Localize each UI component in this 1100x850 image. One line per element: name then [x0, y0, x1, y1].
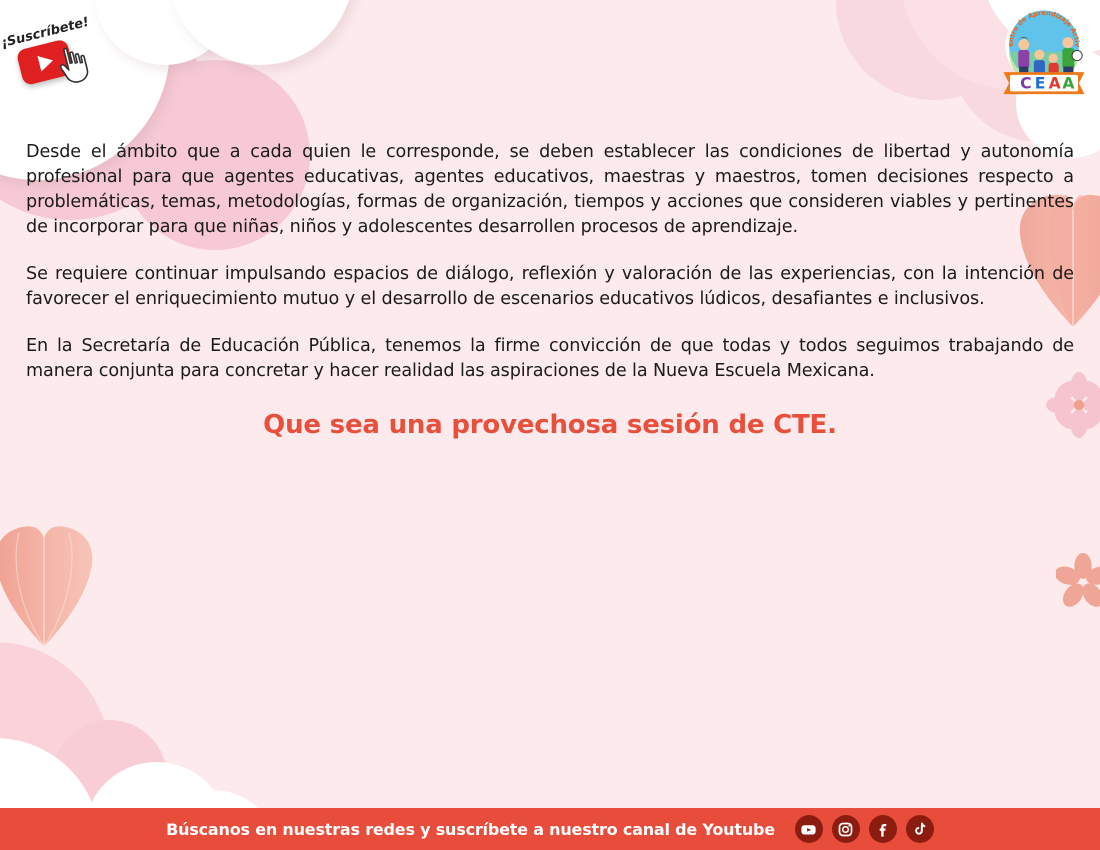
youtube-icon[interactable]: [795, 815, 823, 843]
footer-bar: Búscanos en nuestras redes y suscríbete …: [0, 808, 1100, 850]
svg-text:A: A: [1049, 74, 1062, 93]
svg-text:C: C: [1020, 74, 1031, 93]
body-paragraph-2: Se requiere continuar impulsando espacio…: [26, 262, 1074, 312]
body-paragraph-3: En la Secretaría de Educación Pública, t…: [26, 334, 1074, 384]
decorative-flower-salmon: [1056, 553, 1100, 607]
subscribe-badge[interactable]: ¡Suscríbete!: [0, 7, 129, 104]
decorative-cloud-white: [168, 0, 353, 65]
decorative-balloon-left: [0, 523, 94, 648]
presentation-slide: ¡Suscríbete! Centro de Aprendizaje Activ…: [0, 0, 1100, 850]
svg-text:A: A: [1062, 74, 1075, 93]
instagram-icon[interactable]: [832, 815, 860, 843]
footer-text: Búscanos en nuestras redes y suscríbete …: [166, 820, 775, 839]
slide-body: Desde el ámbito que a cada quien le corr…: [26, 140, 1074, 440]
svg-text:E: E: [1035, 74, 1046, 93]
social-links: [795, 815, 934, 843]
facebook-icon[interactable]: [869, 815, 897, 843]
closing-headline: Que sea una provechosa sesión de CTE.: [26, 410, 1074, 440]
tiktok-icon[interactable]: [906, 815, 934, 843]
ceaa-logo: Centro de Aprendizaje Activo C: [998, 4, 1090, 96]
hand-pointer-icon: [53, 42, 95, 87]
body-paragraph-1: Desde el ámbito que a cada quien le corr…: [26, 140, 1074, 240]
